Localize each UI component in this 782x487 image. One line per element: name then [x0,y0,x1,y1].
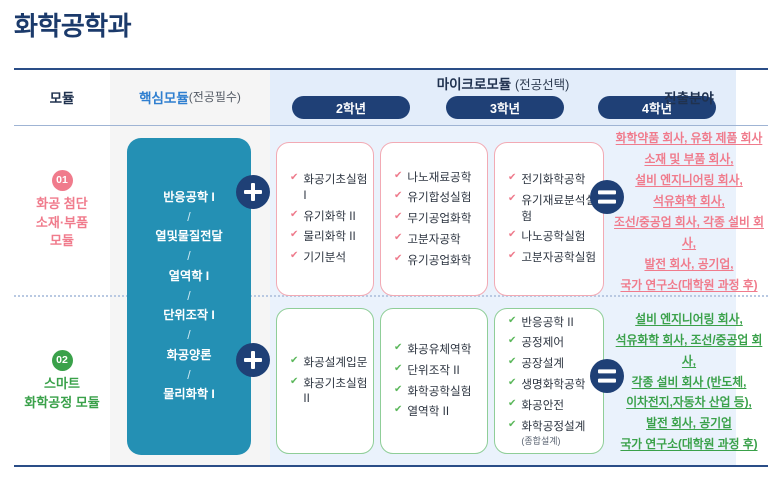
course-label: 유기합성실험 [407,190,471,206]
career-line: 화학약품 회사, 유화 제품 회사 [616,131,763,145]
module-name-1-line-2: 소재·부품 [36,214,88,233]
course-item: ✔반응공학 II [495,312,603,333]
header-career-field: 진출분야 [610,68,768,125]
micro-card-row2-year2: ✔화공설계입문 ✔화공기초실험 II [276,308,374,454]
course-label: 나노재료공학 [407,170,471,186]
course-item: ✔화학공정설계(종합설계) [495,416,603,450]
career-line: 석유화학 회사, 조선/중공업 회사, [616,333,763,368]
module-name-2-line-1: 스마트 [24,375,99,394]
plus-icon-bar-v-2 [251,351,255,369]
course-label-wrap: 화학공정설계(종합설계) [521,419,585,448]
year-pill-2[interactable]: 2학년 [292,96,410,119]
check-icon: ✔ [290,377,298,387]
course-label: 나노공학실험 [521,229,585,245]
course-label: 고분자공학 [407,232,460,248]
check-icon: ✔ [394,343,402,353]
career-line: 설비 엔지니어링 회사, [635,312,743,326]
check-icon: ✔ [394,212,402,222]
module-cell-2: 02 스마트 화학공정 모듈 [14,297,110,465]
course-item: ✔공장설계 [495,354,603,375]
course-note: (종합설계) [521,435,585,447]
core-separator-4: / [187,366,190,386]
course-label: 화공기초실험 I [303,172,373,203]
module-name-1-line-1: 화공 첨단 [36,195,88,214]
header-core-module: 핵심모듈(전공필수) [110,68,270,125]
career-field-row-1: 화학약품 회사, 유화 제품 회사 소재 및 부품 회사, 설비 엔지니어링 회… [610,132,768,292]
course-item: ✔화공기초실험 II [277,373,373,409]
table-bottom-rule [14,465,768,467]
micro-card-row2-year3: ✔화공유체역학 ✔단위조작 II ✔화학공학실험 ✔열역학 II [380,308,488,454]
course-item: ✔화학공학실험 [381,381,487,402]
course-item: ✔유기화학 II [277,206,373,227]
career-line: 각종 설비 회사 (반도체, [632,375,747,389]
check-icon: ✔ [290,173,298,183]
course-item: ✔유기합성실험 [381,188,487,209]
page-title: 화학공학과 [14,6,131,43]
course-item: ✔물리화학 II [277,227,373,248]
check-icon: ✔ [290,230,298,240]
check-icon: ✔ [394,364,402,374]
course-label: 단위조작 II [407,363,459,379]
core-course-4: 화공양론 [167,346,212,366]
course-item: ✔무기공업화학 [381,209,487,230]
course-item: ✔화공기초실험 I [277,170,373,206]
equals-icon-bar-top-2 [598,369,616,373]
career-line: 석유화학 회사, [653,194,725,208]
curriculum-table: 모듈 핵심모듈(전공필수) 마이크로모듈 (전공선택) 2학년 3학년 4학년 … [14,68,768,467]
core-separator-2: / [187,287,190,307]
plus-icon-bar-v-1 [251,183,255,201]
course-label: 반응공학 II [521,315,573,331]
career-field-row-2: 설비 엔지니어링 회사, 석유화학 회사, 조선/중공업 회사, 각종 설비 회… [610,302,768,462]
check-icon: ✔ [508,336,516,346]
course-item: ✔유기재료분석실험 [495,190,603,226]
check-icon: ✔ [508,194,516,204]
check-icon: ✔ [394,385,402,395]
course-label: 열역학 II [407,404,449,420]
course-label: 공정제어 [521,335,564,351]
course-label: 화학공학실험 [407,384,471,400]
table-header-rule [14,125,768,126]
core-separator-3: / [187,326,190,346]
check-icon: ✔ [290,210,298,220]
micro-card-row1-year3: ✔나노재료공학 ✔유기합성실험 ✔무기공업화학 ✔고분자공학 ✔유기공업화학 [380,142,488,296]
check-icon: ✔ [394,191,402,201]
course-label: 물리화학 II [303,229,355,245]
course-label: 화공기초실험 II [303,376,373,407]
course-label: 기기분석 [303,250,346,266]
course-item: ✔화공안전 [495,395,603,416]
check-icon: ✔ [290,251,298,261]
header-core-module-label: 핵심모듈 [139,87,189,107]
course-label: 생명화학공학 [521,377,585,393]
check-icon: ✔ [394,254,402,264]
check-icon: ✔ [508,173,516,183]
header-micro-module-sub: (전공선택) [515,78,569,92]
course-item: ✔기기분석 [277,248,373,269]
curriculum-diagram-page: 화학공학과 모듈 핵심모듈(전공필수) 마이크로모듈 (전공선택) 2학년 3학… [0,0,782,487]
micro-card-row1-year2: ✔화공기초실험 I ✔유기화학 II ✔물리화학 II ✔기기분석 [276,142,374,296]
career-line: 발전 회사, 공기업, [644,257,733,271]
header-module: 모듈 [14,68,110,125]
course-label: 화학공정설계 [521,420,585,433]
course-label: 화공유체역학 [407,342,471,358]
module-name-1-line-3: 모듈 [36,232,88,251]
check-icon: ✔ [394,405,402,415]
core-separator-0: / [187,208,190,228]
check-icon: ✔ [394,233,402,243]
course-label: 공장설계 [521,356,564,372]
core-course-1: 열및물질전달 [155,227,222,247]
module-number-badge-1: 01 [52,170,73,191]
core-course-0: 반응공학 I [163,188,215,208]
module-name-1: 화공 첨단 소재·부품 모듈 [36,195,88,252]
course-item: ✔생명화학공학 [495,374,603,395]
course-item: ✔열역학 II [381,402,487,423]
module-name-2: 스마트 화학공정 모듈 [24,375,99,413]
check-icon: ✔ [508,316,516,326]
course-item: ✔화공설계입문 [277,352,373,373]
check-icon: ✔ [508,399,516,409]
check-icon: ✔ [508,230,516,240]
career-line: 국가 연구소(대학원 과정 후) [620,437,757,451]
course-label: 전기화학공학 [521,172,585,188]
course-label: 무기공업화학 [407,211,471,227]
course-item: ✔단위조작 II [381,360,487,381]
module-cell-1: 01 화공 첨단 소재·부품 모듈 [14,126,110,295]
micro-card-row1-year4: ✔전기화학공학 ✔유기재료분석실험 ✔나노공학실험 ✔고분자공학실험 [494,142,604,296]
module-name-2-line-2: 화학공정 모듈 [24,394,99,413]
course-item: ✔나노공학실험 [495,227,603,248]
course-label: 고분자공학실험 [521,250,596,266]
course-label: 유기화학 II [303,209,355,225]
course-label: 화공안전 [521,398,564,414]
career-line: 발전 회사, 공기업 [646,416,732,430]
career-line: 소재 및 부품 회사, [644,152,733,166]
career-line: 설비 엔지니어링 회사, [635,173,743,187]
course-item: ✔화공유체역학 [381,339,487,360]
equals-icon-row-2 [590,359,624,393]
core-course-3: 단위조작 I [163,306,215,326]
course-item: ✔공정제어 [495,333,603,354]
equals-icon-bar-top-1 [598,190,616,194]
check-icon: ✔ [290,356,298,366]
plus-icon-row-1 [236,175,270,209]
course-item: ✔고분자공학 [381,229,487,250]
course-item: ✔고분자공학실험 [495,248,603,269]
career-line: 조선/중공업 회사, 각종 설비 회사, [614,215,764,250]
course-item: ✔유기공업화학 [381,250,487,271]
course-item: ✔나노재료공학 [381,167,487,188]
core-course-5: 물리화학 I [163,385,215,405]
module-number-badge-2: 02 [52,350,73,371]
check-icon: ✔ [508,251,516,261]
career-line: 국가 연구소(대학원 과정 후) [620,278,757,292]
check-icon: ✔ [508,357,516,367]
core-module-box: 반응공학 I / 열및물질전달 / 열역학 I / 단위조작 I / 화공양론 … [127,138,251,455]
equals-icon-bar-bottom-1 [598,200,616,204]
course-label: 유기공업화학 [407,253,471,269]
course-label: 화공설계입문 [303,355,367,371]
equals-icon-bar-bottom-2 [598,379,616,383]
header-core-module-sub: (전공필수) [189,88,241,105]
check-icon: ✔ [394,171,402,181]
check-icon: ✔ [508,378,516,388]
header-micro-module-main: 마이크로모듈 [437,77,512,92]
course-item: ✔전기화학공학 [495,170,603,191]
year-pill-3[interactable]: 3학년 [446,96,564,119]
career-line: 이차전지,자동차 산업 등), [626,395,752,409]
plus-icon-row-2 [236,343,270,377]
micro-card-row2-year4: ✔반응공학 II ✔공정제어 ✔공장설계 ✔생명화학공학 ✔화공안전 ✔화학공정… [494,308,604,454]
equals-icon-row-1 [590,180,624,214]
check-icon: ✔ [508,420,516,430]
core-course-2: 열역학 I [169,267,209,287]
core-separator-1: / [187,247,190,267]
